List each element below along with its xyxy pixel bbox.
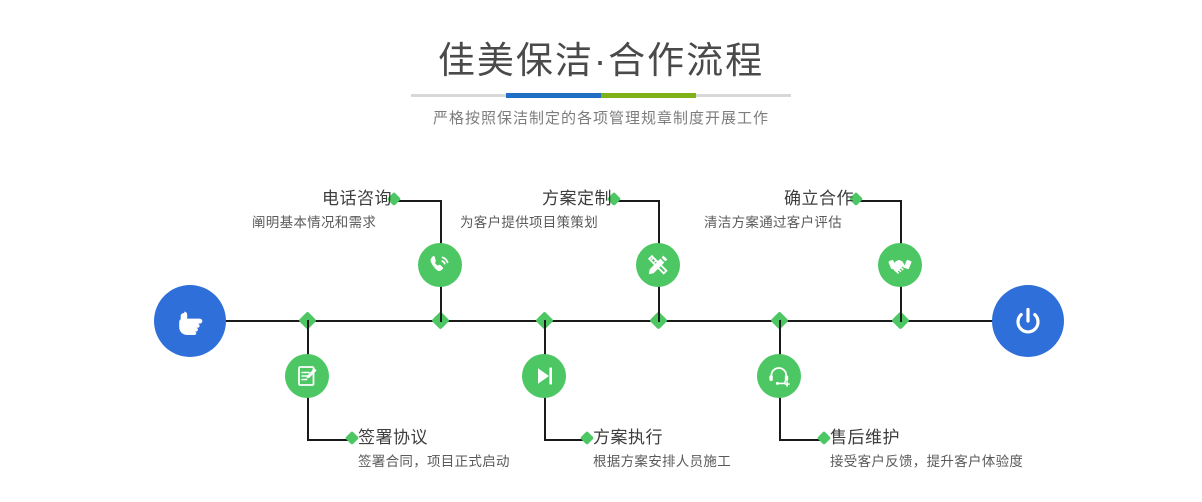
process-flow-infographic: 佳美保洁·合作流程 严格按照保洁制定的各项管理规章制度开展工作 xyxy=(0,0,1202,502)
handshake-icon xyxy=(887,252,913,278)
connector-dot-4 xyxy=(580,431,594,445)
step-label-1: 电话咨询 阐明基本情况和需求 xyxy=(252,188,392,233)
step-title-1: 电话咨询 xyxy=(252,188,392,210)
connector-stem-5-horizontal xyxy=(858,200,902,202)
page-subtitle: 严格按照保洁制定的各项管理规章制度开展工作 xyxy=(0,108,1202,130)
step-title-2: 签署协议 xyxy=(358,427,568,449)
pointing-hand-icon xyxy=(170,301,210,341)
step-label-6: 售后维护 接受客户反馈，提升客户体验度 xyxy=(830,427,1070,472)
pencil-ruler-icon xyxy=(645,252,671,278)
timeline-end-badge xyxy=(992,285,1064,357)
divider-segment-blue xyxy=(506,93,601,98)
step-label-5: 确立合作 清洁方案通过客户评估 xyxy=(704,188,854,233)
connector-stem-6-horizontal xyxy=(779,439,823,441)
connector-stem-3-horizontal xyxy=(616,200,660,202)
step-bubble-4[interactable] xyxy=(522,354,566,398)
divider-segment-green xyxy=(601,93,696,98)
step-description-4: 根据方案安排人员施工 xyxy=(593,452,793,472)
step-description-5: 清洁方案通过客户评估 xyxy=(704,213,854,233)
connector-stem-2-horizontal xyxy=(307,439,351,441)
timeline-start-badge xyxy=(154,285,226,357)
step-title-4: 方案执行 xyxy=(593,427,793,449)
step-description-1: 阐明基本情况和需求 xyxy=(252,213,392,233)
step-bubble-6[interactable] xyxy=(757,354,801,398)
connector-stem-1-horizontal xyxy=(396,200,442,202)
title-divider xyxy=(411,94,791,97)
step-label-3: 方案定制 为客户提供项目策策划 xyxy=(460,188,612,233)
step-title-3: 方案定制 xyxy=(460,188,612,210)
power-icon xyxy=(1008,301,1048,341)
step-bubble-3[interactable] xyxy=(636,243,680,287)
connector-dot-2 xyxy=(345,431,359,445)
step-bubble-5[interactable] xyxy=(878,243,922,287)
step-label-4: 方案执行 根据方案安排人员施工 xyxy=(593,427,793,472)
customer-service-icon xyxy=(766,363,792,389)
step-description-6: 接受客户反馈，提升客户体验度 xyxy=(830,452,1070,472)
document-sign-icon xyxy=(294,363,320,389)
step-description-3: 为客户提供项目策策划 xyxy=(460,213,612,233)
phone-call-icon xyxy=(427,252,453,278)
step-bubble-2[interactable] xyxy=(285,354,329,398)
step-description-2: 签署合同，项目正式启动 xyxy=(358,452,568,472)
play-next-icon xyxy=(531,363,557,389)
step-title-6: 售后维护 xyxy=(830,427,1070,449)
step-label-2: 签署协议 签署合同，项目正式启动 xyxy=(358,427,568,472)
connector-stem-4-horizontal xyxy=(544,439,586,441)
page-title: 佳美保洁·合作流程 xyxy=(0,38,1202,84)
connector-dot-6 xyxy=(817,431,831,445)
step-bubble-1[interactable] xyxy=(418,243,462,287)
step-title-5: 确立合作 xyxy=(704,188,854,210)
